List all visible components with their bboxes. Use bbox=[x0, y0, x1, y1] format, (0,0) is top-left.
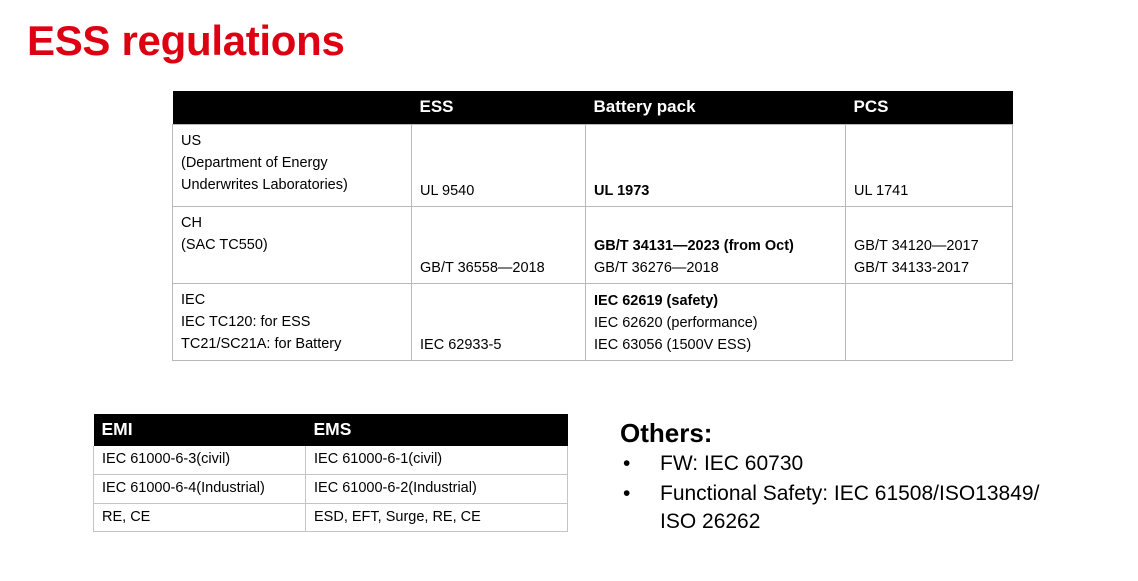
cell-us-pcs: UL 1741 bbox=[846, 124, 1013, 206]
list-item-line: ISO 26262 bbox=[660, 510, 760, 533]
cell-region-iec: IEC IEC TC120: for ESS TC21/SC21A: for B… bbox=[173, 283, 412, 360]
others-section: Others: • FW: IEC 60730 • Functional Saf… bbox=[620, 419, 1120, 538]
cell-line: US bbox=[181, 130, 407, 152]
cell-line: UL 1973 bbox=[594, 180, 841, 202]
cell-us-ess: UL 9540 bbox=[412, 124, 586, 206]
table-row: RE, CE ESD, EFT, Surge, RE, CE bbox=[94, 503, 568, 532]
emi-ems-table: EMI EMS IEC 61000-6-3(civil) IEC 61000-6… bbox=[93, 414, 568, 532]
cell-line: CH bbox=[181, 212, 407, 234]
bullet-icon: • bbox=[623, 480, 630, 509]
cell-line: IEC TC120: for ESS bbox=[181, 311, 407, 333]
column-header-ems: EMS bbox=[306, 414, 568, 446]
cell-line: Underwrites Laboratories) bbox=[181, 174, 407, 196]
cell-line: GB/T 34131—2023 (from Oct) bbox=[594, 235, 841, 257]
table-row: IEC 61000-6-4(Industrial) IEC 61000-6-2(… bbox=[94, 474, 568, 503]
cell-us-battery-pack: UL 1973 bbox=[586, 124, 846, 206]
cell-region-us: US (Department of Energy Underwrites Lab… bbox=[173, 124, 412, 206]
column-header-battery-pack: Battery pack bbox=[586, 91, 846, 124]
page-title: ESS regulations bbox=[27, 16, 345, 66]
column-header-region bbox=[173, 91, 412, 124]
list-item: • Functional Safety: IEC 61508/ISO13849/… bbox=[620, 480, 1120, 537]
cell-line: GB/T 36276—2018 bbox=[594, 257, 841, 279]
column-header-pcs: PCS bbox=[846, 91, 1013, 124]
cell-ems-2: IEC 61000-6-2(Industrial) bbox=[306, 474, 568, 503]
cell-line: GB/T 34120—2017 bbox=[854, 235, 1008, 257]
cell-emi-2: IEC 61000-6-4(Industrial) bbox=[94, 474, 306, 503]
cell-line: IEC 62620 (performance) bbox=[594, 312, 841, 334]
cell-line: (Department of Energy bbox=[181, 152, 407, 174]
cell-ch-battery-pack: GB/T 34131—2023 (from Oct) GB/T 36276—20… bbox=[586, 206, 846, 283]
column-header-ess: ESS bbox=[412, 91, 586, 124]
regulations-table: ESS Battery pack PCS US (Department of E… bbox=[172, 91, 1013, 361]
cell-ch-pcs: GB/T 34120—2017 GB/T 34133-2017 bbox=[846, 206, 1013, 283]
cell-line: GB/T 34133-2017 bbox=[854, 257, 1008, 279]
list-item-line: FW: IEC 60730 bbox=[660, 452, 803, 475]
cell-iec-pcs bbox=[846, 283, 1013, 360]
table-row: IEC IEC TC120: for ESS TC21/SC21A: for B… bbox=[173, 283, 1013, 360]
cell-line: GB/T 36558—2018 bbox=[420, 257, 581, 279]
table-row: IEC 61000-6-3(civil) IEC 61000-6-1(civil… bbox=[94, 446, 568, 474]
others-heading: Others: bbox=[620, 419, 1120, 448]
cell-iec-battery-pack: IEC 62619 (safety) IEC 62620 (performanc… bbox=[586, 283, 846, 360]
cell-line: UL 9540 bbox=[420, 180, 581, 202]
cell-line: IEC 62619 (safety) bbox=[594, 290, 841, 312]
cell-ch-ess: GB/T 36558—2018 bbox=[412, 206, 586, 283]
emi-ems-header-row: EMI EMS bbox=[94, 414, 568, 446]
cell-line: IEC 62933-5 bbox=[420, 334, 581, 356]
cell-line: TC21/SC21A: for Battery bbox=[181, 333, 407, 355]
others-list: • FW: IEC 60730 • Functional Safety: IEC… bbox=[620, 450, 1120, 537]
table-row: CH (SAC TC550) GB/T 36558—2018 GB/T 3413… bbox=[173, 206, 1013, 283]
table-header-row: ESS Battery pack PCS bbox=[173, 91, 1013, 124]
table-row: US (Department of Energy Underwrites Lab… bbox=[173, 124, 1013, 206]
cell-line: IEC 63056 (1500V ESS) bbox=[594, 334, 841, 356]
cell-line: (SAC TC550) bbox=[181, 234, 407, 256]
cell-line: IEC bbox=[181, 289, 407, 311]
cell-region-ch: CH (SAC TC550) bbox=[173, 206, 412, 283]
list-item: • FW: IEC 60730 bbox=[620, 450, 1120, 479]
column-header-emi: EMI bbox=[94, 414, 306, 446]
cell-emi-1: IEC 61000-6-3(civil) bbox=[94, 446, 306, 474]
cell-line: UL 1741 bbox=[854, 180, 1008, 202]
cell-emi-3: RE, CE bbox=[94, 503, 306, 532]
list-item-line: Functional Safety: IEC 61508/ISO13849/ bbox=[660, 482, 1039, 505]
cell-ems-3: ESD, EFT, Surge, RE, CE bbox=[306, 503, 568, 532]
bullet-icon: • bbox=[623, 450, 630, 479]
cell-iec-ess: IEC 62933-5 bbox=[412, 283, 586, 360]
cell-ems-1: IEC 61000-6-1(civil) bbox=[306, 446, 568, 474]
